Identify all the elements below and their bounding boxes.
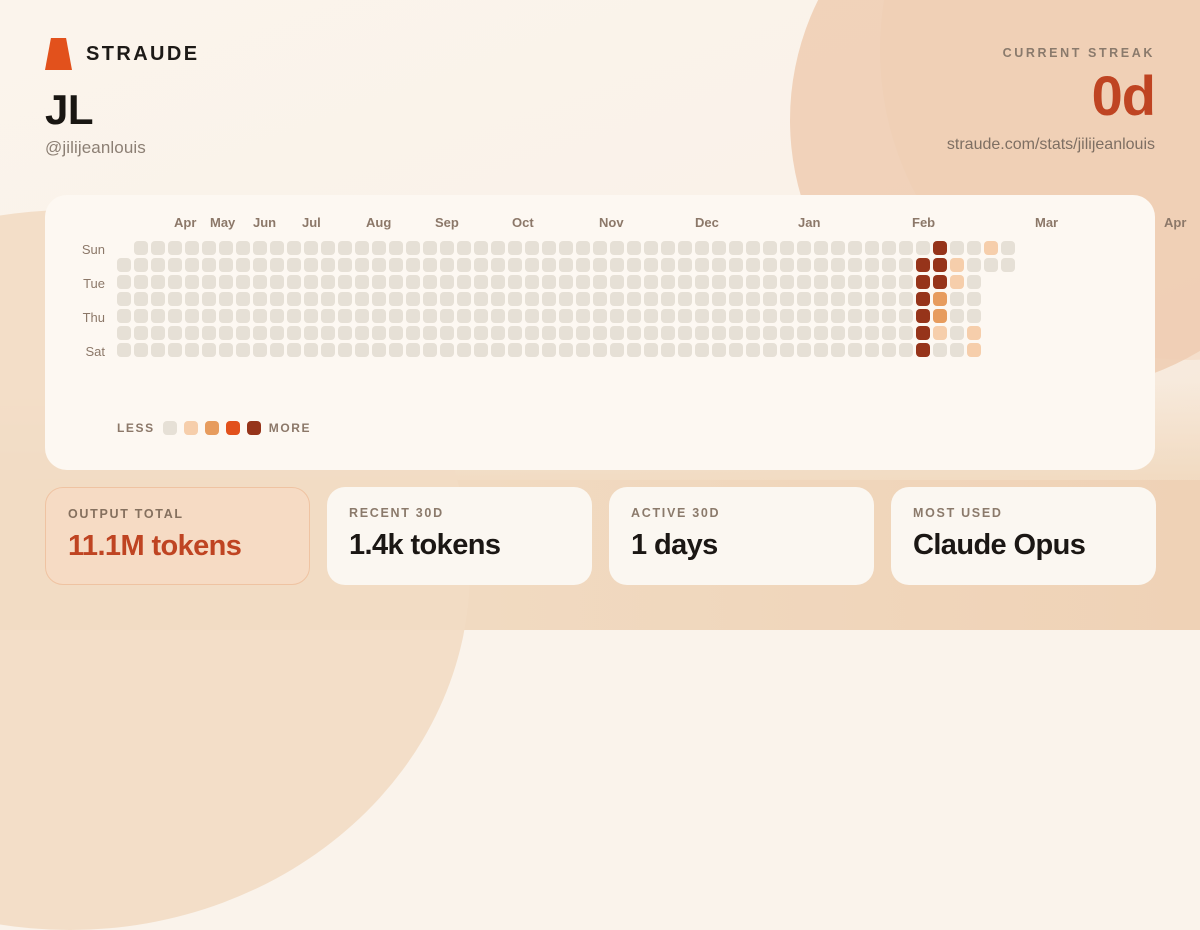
heatmap-cell[interactable] (950, 241, 964, 255)
heatmap-cell[interactable] (372, 343, 386, 357)
heatmap-cell[interactable] (253, 258, 267, 272)
heatmap-cell[interactable] (389, 309, 403, 323)
heatmap-cell[interactable] (712, 241, 726, 255)
heatmap-cell[interactable] (508, 326, 522, 340)
heatmap-cell[interactable] (882, 343, 896, 357)
heatmap-cell[interactable] (593, 292, 607, 306)
heatmap-cell[interactable] (457, 292, 471, 306)
heatmap-cell[interactable] (355, 258, 369, 272)
heatmap-cell[interactable] (474, 309, 488, 323)
heatmap-cell[interactable] (780, 343, 794, 357)
heatmap-cell[interactable] (355, 326, 369, 340)
heatmap-cell[interactable] (627, 326, 641, 340)
heatmap-cell[interactable] (338, 258, 352, 272)
heatmap-cell[interactable] (304, 258, 318, 272)
heatmap-cell[interactable] (321, 292, 335, 306)
heatmap-cell[interactable] (491, 258, 505, 272)
heatmap-cell[interactable] (916, 292, 930, 306)
heatmap-cell[interactable] (406, 309, 420, 323)
heatmap-cell[interactable] (525, 309, 539, 323)
heatmap-cell[interactable] (355, 292, 369, 306)
heatmap-cell[interactable] (406, 275, 420, 289)
heatmap-cell[interactable] (695, 326, 709, 340)
heatmap-cell[interactable] (593, 343, 607, 357)
heatmap-cell[interactable] (338, 326, 352, 340)
heatmap-cell[interactable] (627, 292, 641, 306)
heatmap-cell[interactable] (270, 292, 284, 306)
heatmap-cell[interactable] (593, 241, 607, 255)
heatmap-cell[interactable] (406, 343, 420, 357)
heatmap-cell[interactable] (984, 258, 998, 272)
heatmap-cell[interactable] (882, 309, 896, 323)
heatmap-cell[interactable] (236, 258, 250, 272)
heatmap-cell[interactable] (559, 309, 573, 323)
heatmap-cell[interactable] (967, 309, 981, 323)
heatmap-cell[interactable] (916, 309, 930, 323)
heatmap-cell[interactable] (440, 326, 454, 340)
heatmap-cell[interactable] (678, 292, 692, 306)
heatmap-cell[interactable] (678, 258, 692, 272)
heatmap-cell[interactable] (423, 258, 437, 272)
heatmap-cell[interactable] (491, 326, 505, 340)
heatmap-cell[interactable] (406, 241, 420, 255)
heatmap-cell[interactable] (525, 326, 539, 340)
heatmap-cell[interactable] (168, 258, 182, 272)
heatmap-cell[interactable] (542, 326, 556, 340)
heatmap-cell[interactable] (780, 241, 794, 255)
heatmap-cell[interactable] (440, 258, 454, 272)
heatmap-cell[interactable] (134, 241, 148, 255)
heatmap-cell[interactable] (610, 292, 624, 306)
heatmap-cell[interactable] (746, 258, 760, 272)
heatmap-cell[interactable] (151, 292, 165, 306)
heatmap-cell[interactable] (831, 326, 845, 340)
heatmap-cell[interactable] (253, 343, 267, 357)
heatmap-cell[interactable] (440, 241, 454, 255)
heatmap-cell[interactable] (236, 292, 250, 306)
heatmap-cell[interactable] (950, 292, 964, 306)
heatmap-cell[interactable] (627, 275, 641, 289)
heatmap-cell[interactable] (712, 275, 726, 289)
heatmap-cell[interactable] (440, 275, 454, 289)
heatmap-cell[interactable] (695, 292, 709, 306)
heatmap-cell[interactable] (899, 258, 913, 272)
heatmap-cell[interactable] (372, 292, 386, 306)
heatmap-cell[interactable] (440, 292, 454, 306)
heatmap-cell[interactable] (576, 326, 590, 340)
heatmap-cell[interactable] (848, 292, 862, 306)
heatmap-cell[interactable] (967, 292, 981, 306)
heatmap-cell[interactable] (236, 309, 250, 323)
heatmap-cell[interactable] (338, 275, 352, 289)
heatmap-cell[interactable] (219, 326, 233, 340)
heatmap-cell[interactable] (610, 258, 624, 272)
heatmap-cell[interactable] (372, 309, 386, 323)
heatmap-cell[interactable] (389, 275, 403, 289)
heatmap-cell[interactable] (219, 275, 233, 289)
heatmap-cell[interactable] (474, 292, 488, 306)
heatmap-cell[interactable] (661, 309, 675, 323)
heatmap-cell[interactable] (1001, 241, 1015, 255)
heatmap-cell[interactable] (355, 275, 369, 289)
heatmap-cell[interactable] (899, 241, 913, 255)
heatmap-cell[interactable] (797, 292, 811, 306)
heatmap-cell[interactable] (525, 343, 539, 357)
heatmap-cell[interactable] (967, 241, 981, 255)
heatmap-cell[interactable] (610, 326, 624, 340)
heatmap-cell[interactable] (202, 343, 216, 357)
heatmap-cell[interactable] (661, 343, 675, 357)
heatmap-cell[interactable] (440, 343, 454, 357)
heatmap-cell[interactable] (814, 275, 828, 289)
heatmap-cell[interactable] (508, 343, 522, 357)
heatmap-cell[interactable] (423, 326, 437, 340)
heatmap-cell[interactable] (729, 258, 743, 272)
heatmap-cell[interactable] (644, 343, 658, 357)
heatmap-cell[interactable] (559, 241, 573, 255)
heatmap-cell[interactable] (134, 326, 148, 340)
heatmap-cell[interactable] (729, 292, 743, 306)
heatmap-cell[interactable] (287, 343, 301, 357)
heatmap-cell[interactable] (729, 326, 743, 340)
heatmap-cell[interactable] (253, 275, 267, 289)
heatmap-cell[interactable] (202, 309, 216, 323)
heatmap-cell[interactable] (491, 292, 505, 306)
heatmap-cell[interactable] (763, 343, 777, 357)
heatmap-cell[interactable] (202, 292, 216, 306)
heatmap-cell[interactable] (508, 292, 522, 306)
heatmap-cell[interactable] (253, 309, 267, 323)
heatmap-cell[interactable] (202, 241, 216, 255)
heatmap-cell[interactable] (525, 241, 539, 255)
heatmap-cell[interactable] (593, 309, 607, 323)
heatmap-cell[interactable] (168, 275, 182, 289)
heatmap-cell[interactable] (474, 326, 488, 340)
heatmap-cell[interactable] (372, 275, 386, 289)
heatmap-cell[interactable] (423, 309, 437, 323)
heatmap-cell[interactable] (287, 326, 301, 340)
heatmap-cell[interactable] (253, 241, 267, 255)
heatmap-cell[interactable] (984, 241, 998, 255)
heatmap-cell[interactable] (814, 326, 828, 340)
heatmap-cell[interactable] (372, 241, 386, 255)
heatmap-cell[interactable] (219, 241, 233, 255)
heatmap-cell[interactable] (950, 309, 964, 323)
heatmap-cell[interactable] (202, 258, 216, 272)
heatmap-cell[interactable] (457, 343, 471, 357)
heatmap-cell[interactable] (134, 275, 148, 289)
heatmap-cell[interactable] (168, 309, 182, 323)
heatmap-cell[interactable] (423, 343, 437, 357)
heatmap-cell[interactable] (814, 292, 828, 306)
heatmap-cell[interactable] (831, 275, 845, 289)
heatmap-cell[interactable] (355, 343, 369, 357)
heatmap-cell[interactable] (525, 258, 539, 272)
heatmap-cell[interactable] (270, 326, 284, 340)
heatmap-cell[interactable] (576, 275, 590, 289)
heatmap-cell[interactable] (899, 309, 913, 323)
heatmap-cell[interactable] (729, 343, 743, 357)
heatmap-cell[interactable] (678, 309, 692, 323)
heatmap-cell[interactable] (882, 292, 896, 306)
heatmap-cell[interactable] (542, 309, 556, 323)
heatmap-cell[interactable] (321, 258, 335, 272)
heatmap-cell[interactable] (304, 343, 318, 357)
heatmap-cell[interactable] (491, 241, 505, 255)
heatmap-cell[interactable] (287, 309, 301, 323)
heatmap-cell[interactable] (763, 292, 777, 306)
heatmap-cell[interactable] (763, 326, 777, 340)
heatmap-cell[interactable] (610, 275, 624, 289)
heatmap-cell[interactable] (610, 343, 624, 357)
heatmap-cell[interactable] (253, 326, 267, 340)
heatmap-cell[interactable] (185, 309, 199, 323)
heatmap-cell[interactable] (304, 241, 318, 255)
heatmap-cell[interactable] (882, 241, 896, 255)
heatmap-cell[interactable] (763, 309, 777, 323)
heatmap-cell[interactable] (831, 343, 845, 357)
heatmap-cell[interactable] (695, 275, 709, 289)
heatmap-cell[interactable] (338, 343, 352, 357)
heatmap-cell[interactable] (780, 275, 794, 289)
heatmap-cell[interactable] (338, 309, 352, 323)
heatmap-cell[interactable] (746, 275, 760, 289)
heatmap-cell[interactable] (304, 326, 318, 340)
heatmap-cell[interactable] (134, 343, 148, 357)
heatmap-cell[interactable] (797, 326, 811, 340)
heatmap-cell[interactable] (1001, 258, 1015, 272)
heatmap-cell[interactable] (797, 309, 811, 323)
heatmap-cell[interactable] (423, 292, 437, 306)
heatmap-cell[interactable] (440, 309, 454, 323)
heatmap-cell[interactable] (508, 258, 522, 272)
heatmap-cell[interactable] (117, 326, 131, 340)
heatmap-cell[interactable] (389, 343, 403, 357)
heatmap-cell[interactable] (559, 275, 573, 289)
heatmap-cell[interactable] (814, 309, 828, 323)
heatmap-cell[interactable] (712, 326, 726, 340)
heatmap-cell[interactable] (270, 309, 284, 323)
heatmap-cell[interactable] (644, 292, 658, 306)
heatmap-cell[interactable] (457, 326, 471, 340)
heatmap-cell[interactable] (661, 292, 675, 306)
heatmap-cell[interactable] (746, 326, 760, 340)
heatmap-cell[interactable] (712, 292, 726, 306)
heatmap-cell[interactable] (831, 258, 845, 272)
heatmap-cell[interactable] (287, 292, 301, 306)
heatmap-cell[interactable] (763, 275, 777, 289)
heatmap-cell[interactable] (712, 343, 726, 357)
heatmap-cell[interactable] (542, 292, 556, 306)
heatmap-cell[interactable] (814, 241, 828, 255)
heatmap-cell[interactable] (831, 292, 845, 306)
heatmap-cell[interactable] (168, 292, 182, 306)
heatmap-cell[interactable] (542, 343, 556, 357)
brand[interactable]: STRAUDE (45, 38, 199, 70)
heatmap-cell[interactable] (865, 309, 879, 323)
heatmap-cell[interactable] (848, 258, 862, 272)
heatmap-cell[interactable] (627, 309, 641, 323)
heatmap-cell[interactable] (950, 326, 964, 340)
heatmap-cell[interactable] (389, 292, 403, 306)
heatmap-cell[interactable] (729, 275, 743, 289)
heatmap-cell[interactable] (151, 241, 165, 255)
heatmap-cell[interactable] (865, 292, 879, 306)
heatmap-cell[interactable] (576, 241, 590, 255)
heatmap-cell[interactable] (882, 275, 896, 289)
heatmap-cell[interactable] (542, 241, 556, 255)
heatmap-cell[interactable] (151, 309, 165, 323)
heatmap-cell[interactable] (185, 258, 199, 272)
heatmap-cell[interactable] (712, 309, 726, 323)
heatmap-cell[interactable] (576, 309, 590, 323)
heatmap-cell[interactable] (372, 258, 386, 272)
heatmap-cell[interactable] (117, 292, 131, 306)
heatmap-cell[interactable] (695, 343, 709, 357)
heatmap-cell[interactable] (355, 241, 369, 255)
heatmap-cell[interactable] (117, 275, 131, 289)
heatmap-cell[interactable] (814, 343, 828, 357)
heatmap-cell[interactable] (933, 326, 947, 340)
heatmap-cell[interactable] (950, 275, 964, 289)
heatmap-cell[interactable] (967, 275, 981, 289)
heatmap-cell[interactable] (593, 275, 607, 289)
heatmap-cell[interactable] (525, 275, 539, 289)
heatmap-cell[interactable] (168, 241, 182, 255)
heatmap-cell[interactable] (644, 326, 658, 340)
heatmap-cell[interactable] (559, 258, 573, 272)
heatmap-cell[interactable] (950, 258, 964, 272)
heatmap-cell[interactable] (542, 258, 556, 272)
heatmap-cell[interactable] (865, 241, 879, 255)
heatmap-cell[interactable] (695, 258, 709, 272)
heatmap-cell[interactable] (933, 258, 947, 272)
heatmap-cell[interactable] (678, 326, 692, 340)
heatmap-cell[interactable] (321, 309, 335, 323)
heatmap-cell[interactable] (848, 309, 862, 323)
heatmap-cell[interactable] (695, 309, 709, 323)
heatmap-cell[interactable] (389, 326, 403, 340)
heatmap-cell[interactable] (882, 258, 896, 272)
heatmap-cell[interactable] (406, 258, 420, 272)
heatmap-cell[interactable] (678, 275, 692, 289)
heatmap-cell[interactable] (678, 343, 692, 357)
heatmap-cell[interactable] (423, 241, 437, 255)
heatmap-cell[interactable] (457, 258, 471, 272)
heatmap-cell[interactable] (933, 275, 947, 289)
heatmap-cell[interactable] (389, 241, 403, 255)
heatmap-cell[interactable] (202, 326, 216, 340)
heatmap-cell[interactable] (576, 258, 590, 272)
heatmap-cell[interactable] (661, 326, 675, 340)
heatmap-cell[interactable] (457, 241, 471, 255)
heatmap-cell[interactable] (321, 343, 335, 357)
heatmap-cell[interactable] (287, 275, 301, 289)
heatmap-cell[interactable] (797, 275, 811, 289)
heatmap-cell[interactable] (372, 326, 386, 340)
heatmap-cell[interactable] (304, 309, 318, 323)
heatmap-cell[interactable] (746, 241, 760, 255)
heatmap-cell[interactable] (508, 309, 522, 323)
heatmap-cell[interactable] (389, 258, 403, 272)
heatmap-cell[interactable] (593, 258, 607, 272)
heatmap-cell[interactable] (848, 241, 862, 255)
heatmap-cell[interactable] (882, 326, 896, 340)
heatmap-cell[interactable] (916, 343, 930, 357)
heatmap-cell[interactable] (219, 343, 233, 357)
heatmap-cell[interactable] (797, 258, 811, 272)
heatmap-cell[interactable] (134, 292, 148, 306)
heatmap-cell[interactable] (916, 326, 930, 340)
heatmap-cell[interactable] (185, 241, 199, 255)
heatmap-cell[interactable] (270, 258, 284, 272)
heatmap-cell[interactable] (321, 241, 335, 255)
heatmap-cell[interactable] (593, 326, 607, 340)
heatmap-cell[interactable] (627, 258, 641, 272)
heatmap-cell[interactable] (933, 343, 947, 357)
heatmap-cell[interactable] (780, 258, 794, 272)
heatmap-cell[interactable] (678, 241, 692, 255)
heatmap-cell[interactable] (695, 241, 709, 255)
heatmap-cell[interactable] (321, 275, 335, 289)
heatmap-cell[interactable] (848, 326, 862, 340)
heatmap-cell[interactable] (576, 292, 590, 306)
heatmap-cell[interactable] (457, 309, 471, 323)
heatmap-cell[interactable] (865, 258, 879, 272)
heatmap-cell[interactable] (644, 275, 658, 289)
heatmap-cell[interactable] (899, 326, 913, 340)
heatmap-cell[interactable] (270, 343, 284, 357)
heatmap-cell[interactable] (491, 275, 505, 289)
heatmap-cell[interactable] (117, 309, 131, 323)
heatmap-cell[interactable] (474, 343, 488, 357)
heatmap-cell[interactable] (168, 343, 182, 357)
heatmap-cell[interactable] (814, 258, 828, 272)
heatmap-cell[interactable] (899, 275, 913, 289)
heatmap-cell[interactable] (474, 241, 488, 255)
heatmap-cell[interactable] (627, 241, 641, 255)
heatmap-cell[interactable] (219, 292, 233, 306)
heatmap-cell[interactable] (151, 275, 165, 289)
heatmap-cell[interactable] (304, 292, 318, 306)
heatmap-cell[interactable] (933, 309, 947, 323)
heatmap-cell[interactable] (406, 292, 420, 306)
heatmap-cell[interactable] (117, 258, 131, 272)
heatmap-cell[interactable] (967, 343, 981, 357)
heatmap-cell[interactable] (576, 343, 590, 357)
heatmap-cell[interactable] (151, 258, 165, 272)
heatmap-cell[interactable] (168, 326, 182, 340)
heatmap-cell[interactable] (406, 326, 420, 340)
heatmap-cell[interactable] (287, 258, 301, 272)
heatmap-cell[interactable] (831, 309, 845, 323)
heatmap-cell[interactable] (610, 241, 624, 255)
heatmap-cell[interactable] (610, 309, 624, 323)
heatmap-cell[interactable] (644, 241, 658, 255)
heatmap-cell[interactable] (644, 258, 658, 272)
heatmap-cell[interactable] (236, 241, 250, 255)
heatmap-cell[interactable] (151, 326, 165, 340)
heatmap-cell[interactable] (236, 343, 250, 357)
heatmap-cell[interactable] (865, 326, 879, 340)
heatmap-cell[interactable] (763, 258, 777, 272)
heatmap-cell[interactable] (627, 343, 641, 357)
heatmap-cell[interactable] (321, 326, 335, 340)
heatmap-cell[interactable] (508, 241, 522, 255)
heatmap-cell[interactable] (219, 309, 233, 323)
heatmap-cell[interactable] (916, 258, 930, 272)
heatmap-cell[interactable] (780, 326, 794, 340)
